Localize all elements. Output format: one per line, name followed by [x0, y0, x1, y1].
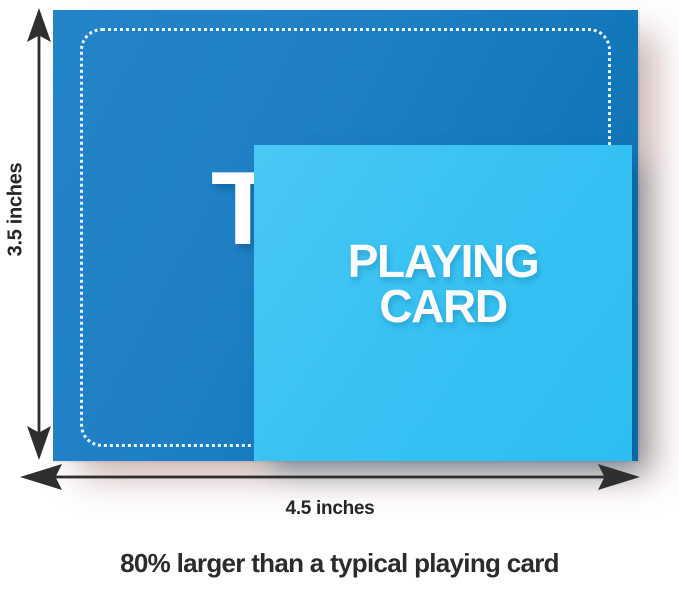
width-label: 4.5 inches — [20, 498, 640, 520]
size-comparison-diagram: 3.5 inches T EXAMPLE PLAYING CARD 4.5 in… — [0, 0, 679, 530]
playing-card-label-line2: CARD — [254, 284, 632, 329]
height-label: 3.5 inches — [5, 150, 28, 270]
double-headed-vertical-arrow-icon — [26, 8, 52, 460]
width-measurement: 4.5 inches — [20, 462, 660, 532]
playing-card-label-line1: PLAYING — [254, 239, 632, 284]
height-measurement: 3.5 inches — [0, 8, 52, 458]
comparison-caption: 80% larger than a typical playing card — [0, 548, 679, 579]
playing-card-label: PLAYING CARD — [254, 239, 632, 329]
playing-card: PLAYING CARD — [254, 145, 632, 461]
double-headed-horizontal-arrow-icon — [20, 462, 640, 492]
